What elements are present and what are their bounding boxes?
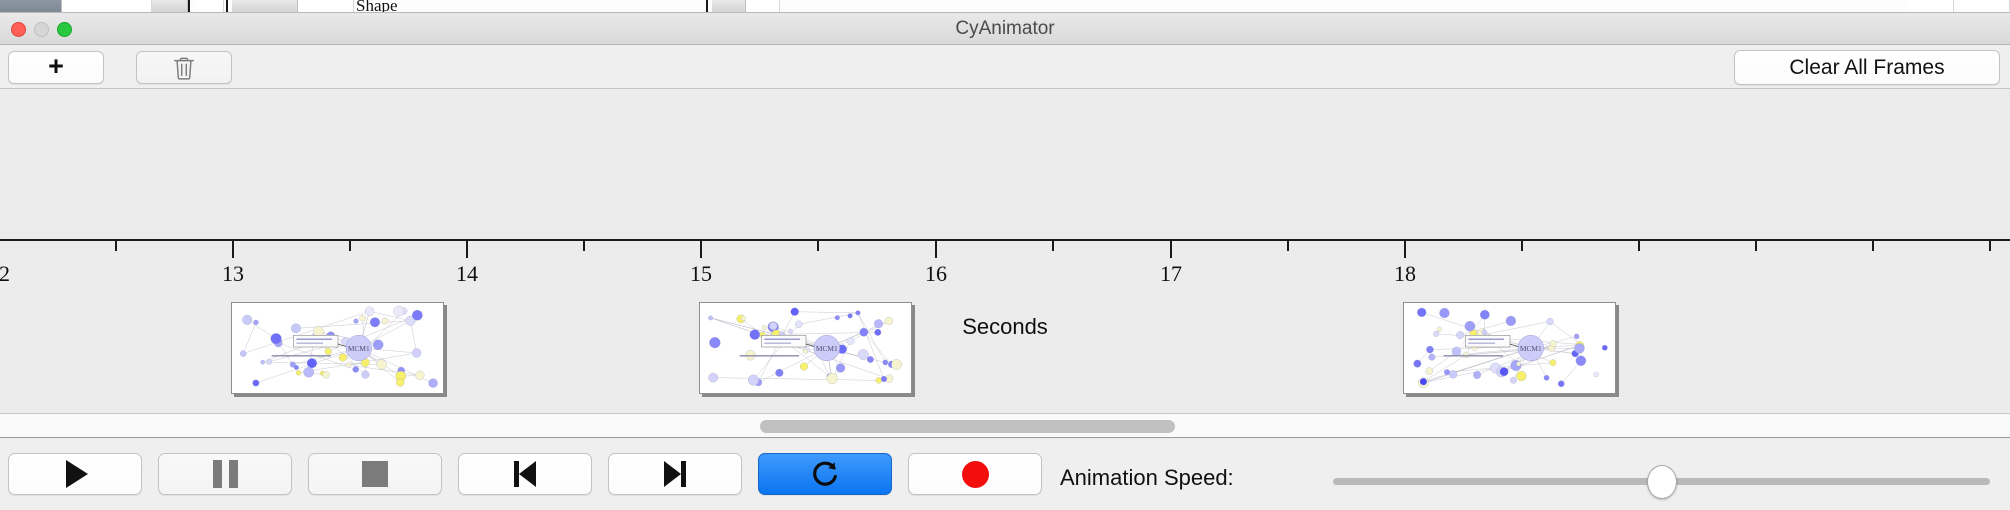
- record-button[interactable]: [908, 453, 1042, 495]
- title-bar[interactable]: CyAnimator: [0, 13, 2010, 45]
- axis-tick: [1638, 241, 1640, 251]
- delete-frame-button[interactable]: [136, 51, 232, 84]
- axis-tick: [349, 241, 351, 251]
- background-mark: [706, 0, 708, 13]
- axis-tick-label: 14: [456, 261, 478, 287]
- axis-tick: [1287, 241, 1289, 251]
- axis-tick-label: 16: [925, 261, 947, 287]
- background-window-strip: Shape: [0, 0, 2010, 13]
- axis-line: [0, 239, 2010, 241]
- axis-tick: [232, 241, 234, 258]
- previous-icon: [514, 461, 536, 487]
- axis-tick: [1872, 241, 1874, 251]
- background-label: Shape: [356, 0, 398, 13]
- axis-tick-label: 18: [1394, 261, 1416, 287]
- background-tab: [62, 0, 152, 13]
- background-tab: [1960, 0, 2010, 13]
- play-icon: [66, 460, 88, 488]
- background-tab: [232, 0, 298, 13]
- playback-bar: Animation Speed:: [0, 439, 2010, 510]
- axis-tick: [1989, 241, 1991, 251]
- axis-tick-label: 12: [0, 261, 10, 287]
- animation-speed-thumb[interactable]: [1647, 465, 1677, 499]
- pause-button[interactable]: [158, 453, 292, 495]
- clear-all-frames-button[interactable]: Clear All Frames: [1734, 50, 2000, 85]
- background-mark: [188, 0, 190, 13]
- axis-tick-label: 15: [690, 261, 712, 287]
- axis-tick: [1052, 241, 1054, 251]
- previous-button[interactable]: [458, 453, 592, 495]
- axis-tick: [935, 241, 937, 258]
- background-tab: [194, 0, 224, 13]
- axis-tick: [1521, 241, 1523, 251]
- background-tab: [712, 0, 746, 13]
- axis-tick: [466, 241, 468, 258]
- next-icon: [664, 461, 686, 487]
- background-tab-selected: [0, 0, 62, 13]
- background-tab: [746, 0, 780, 13]
- toolbar: + Clear All Frames: [0, 45, 2010, 89]
- scrollbar-thumb[interactable]: [760, 420, 1175, 433]
- pause-icon: [213, 460, 238, 488]
- axis-tick: [583, 241, 585, 251]
- background-mark: [226, 0, 228, 13]
- axis-tick-label: 13: [222, 261, 244, 287]
- loop-icon: [810, 459, 840, 489]
- axis-tick: [700, 241, 702, 258]
- timeline-panel[interactable]: MCM1MCM1MCM1 12131415161718 Seconds: [0, 89, 2010, 414]
- stop-icon: [362, 461, 388, 487]
- next-button[interactable]: [608, 453, 742, 495]
- trash-icon: [173, 56, 195, 80]
- stop-button[interactable]: [308, 453, 442, 495]
- cyanimator-window: Shape CyAnimator + Clear All Frames MCM1…: [0, 0, 2010, 510]
- axis-tick: [115, 241, 117, 251]
- timeline-axis: 12131415161718 Seconds: [0, 239, 2010, 349]
- play-button[interactable]: [8, 453, 142, 495]
- plus-icon: +: [48, 53, 64, 80]
- clear-all-frames-label: Clear All Frames: [1789, 56, 1944, 80]
- axis-tick: [817, 241, 819, 251]
- animation-speed-label: Animation Speed:: [1060, 465, 1234, 491]
- timeline-scrollbar[interactable]: [0, 414, 2010, 438]
- background-tab: [152, 0, 188, 13]
- window-title: CyAnimator: [0, 13, 2010, 45]
- add-frame-button[interactable]: +: [8, 51, 104, 84]
- axis-title: Seconds: [0, 314, 2010, 340]
- axis-tick-label: 17: [1160, 261, 1182, 287]
- background-tab: [1910, 0, 1954, 13]
- record-icon: [962, 461, 989, 488]
- axis-tick: [1404, 241, 1406, 258]
- axis-tick: [1170, 241, 1172, 258]
- loop-button[interactable]: [758, 453, 892, 495]
- axis-tick: [1755, 241, 1757, 251]
- background-tab: [298, 0, 354, 13]
